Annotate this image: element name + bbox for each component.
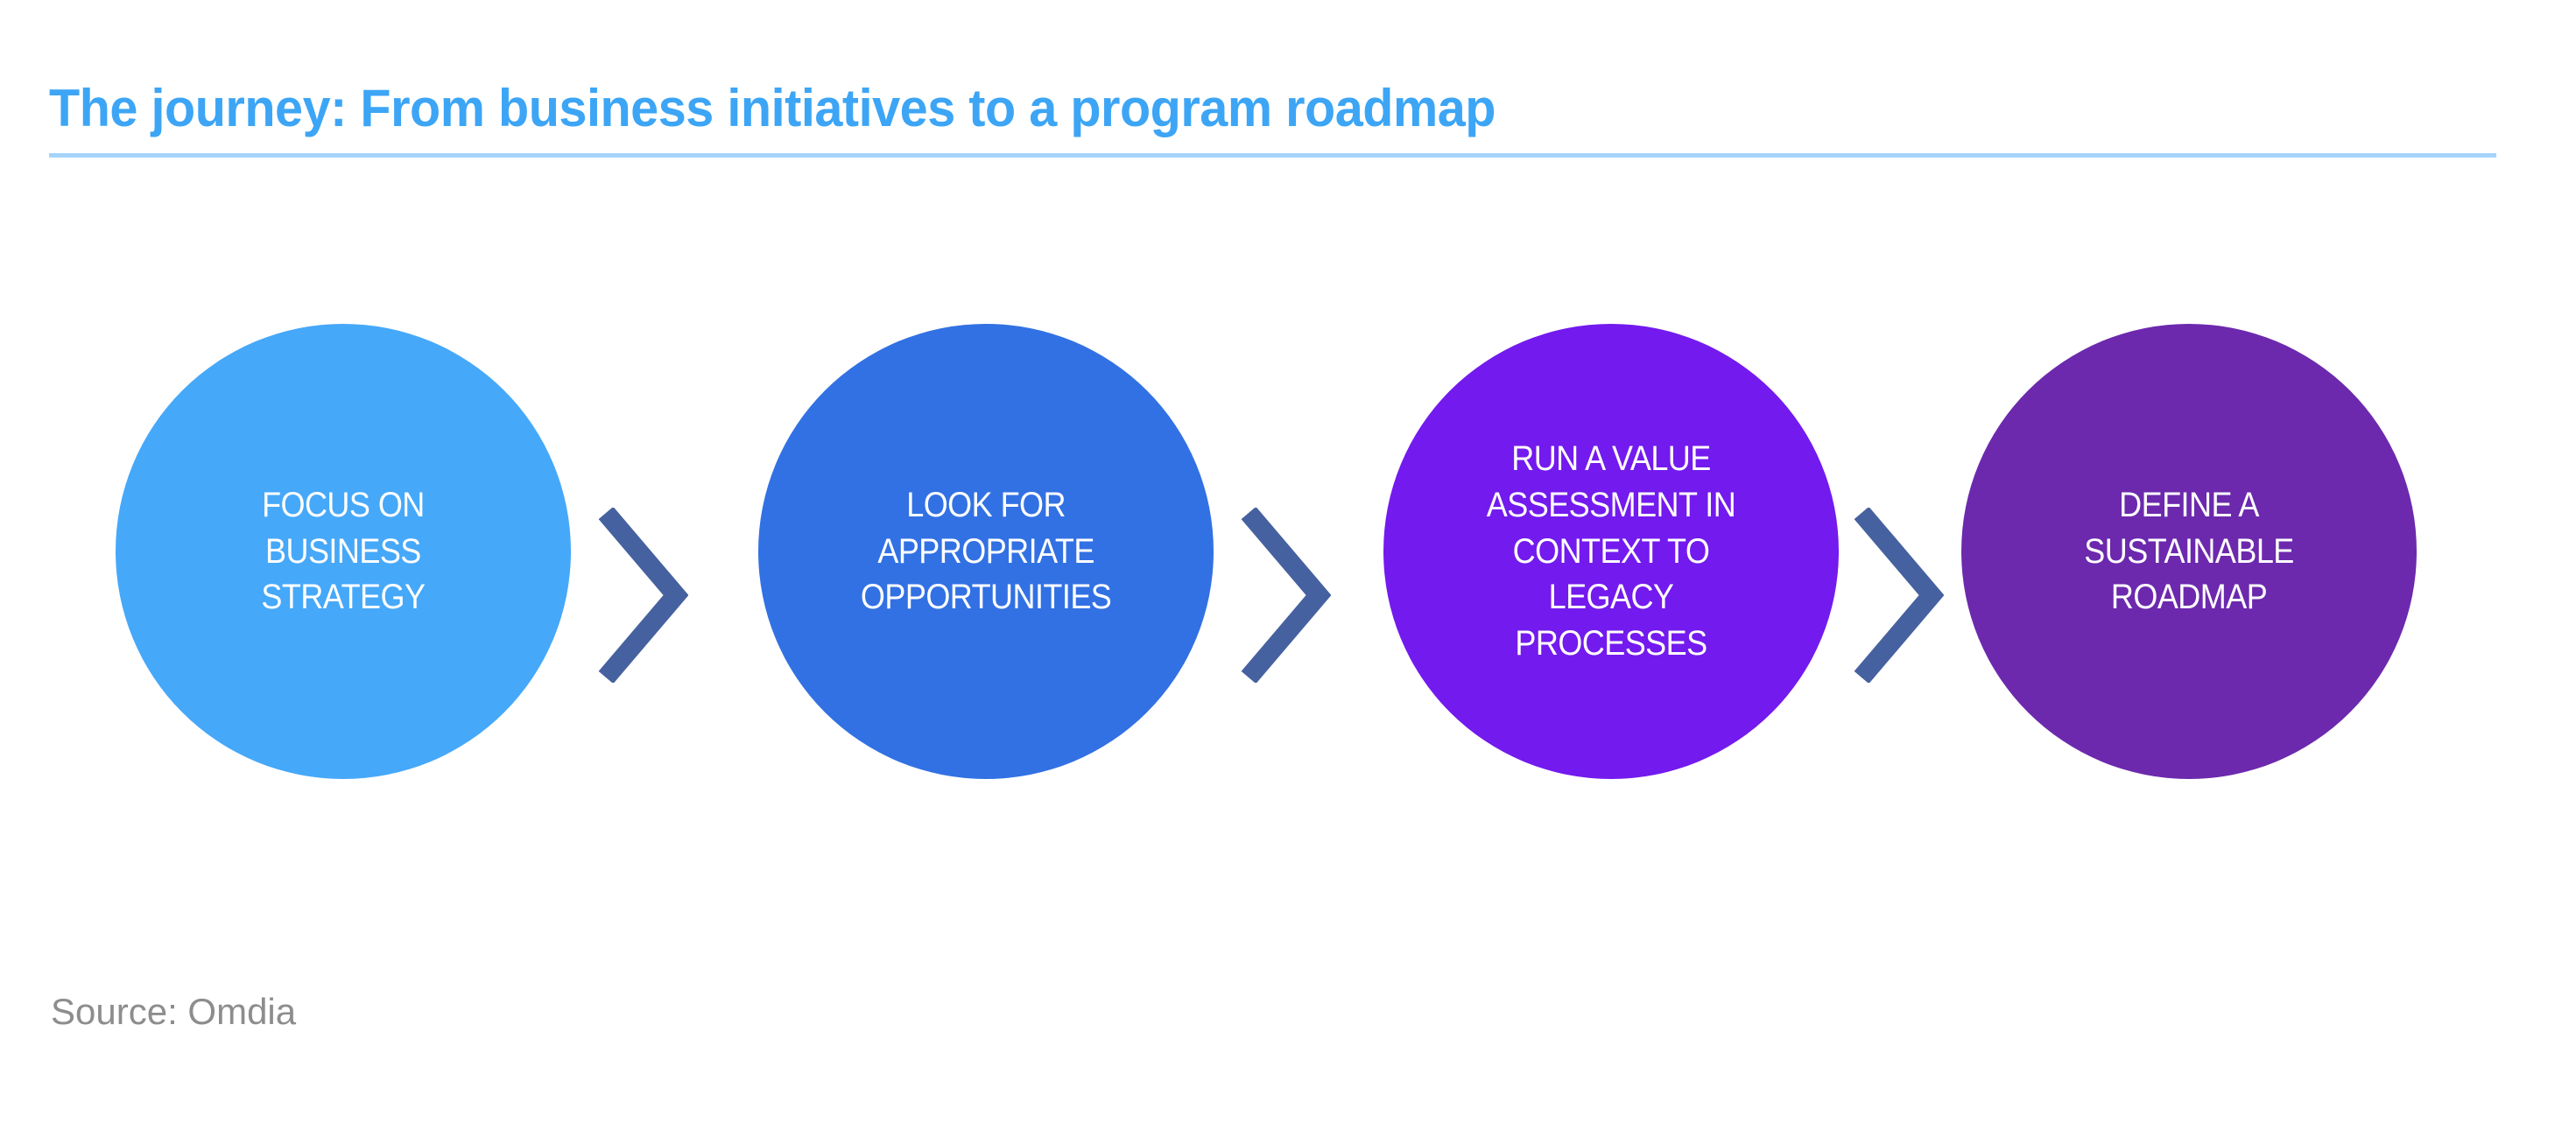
chevron-right-icon <box>1848 508 1944 683</box>
process-step-label-2: LOOK FOR APPROPRIATE OPPORTUNITIES <box>834 482 1138 621</box>
chevron-right-icon <box>1235 508 1331 683</box>
process-step-label-1: FOCUS ON BUSINESS STRATEGY <box>235 482 452 621</box>
title-underline-divider <box>49 153 2496 158</box>
process-step-circle-2: LOOK FOR APPROPRIATE OPPORTUNITIES <box>758 324 1214 779</box>
slide-canvas: The journey: From business initiatives t… <box>0 0 2576 1137</box>
process-step-circle-3: RUN A VALUE ASSESSMENT IN CONTEXT TO LEG… <box>1383 324 1839 779</box>
page-title: The journey: From business initiatives t… <box>49 81 2398 136</box>
process-step-circle-1: FOCUS ON BUSINESS STRATEGY <box>116 324 571 779</box>
source-note: Source: Omdia <box>51 991 296 1033</box>
process-step-label-4: DEFINE A SUSTAINABLE ROADMAP <box>2058 482 2321 621</box>
process-step-label-3: RUN A VALUE ASSESSMENT IN CONTEXT TO LEG… <box>1460 436 1763 667</box>
slide-header: The journey: From business initiatives t… <box>49 81 2496 158</box>
process-step-circle-4: DEFINE A SUSTAINABLE ROADMAP <box>1961 324 2417 779</box>
process-flow-diagram: FOCUS ON BUSINESS STRATEGY LOOK FOR APPR… <box>0 289 2576 814</box>
chevron-right-icon <box>592 508 688 683</box>
